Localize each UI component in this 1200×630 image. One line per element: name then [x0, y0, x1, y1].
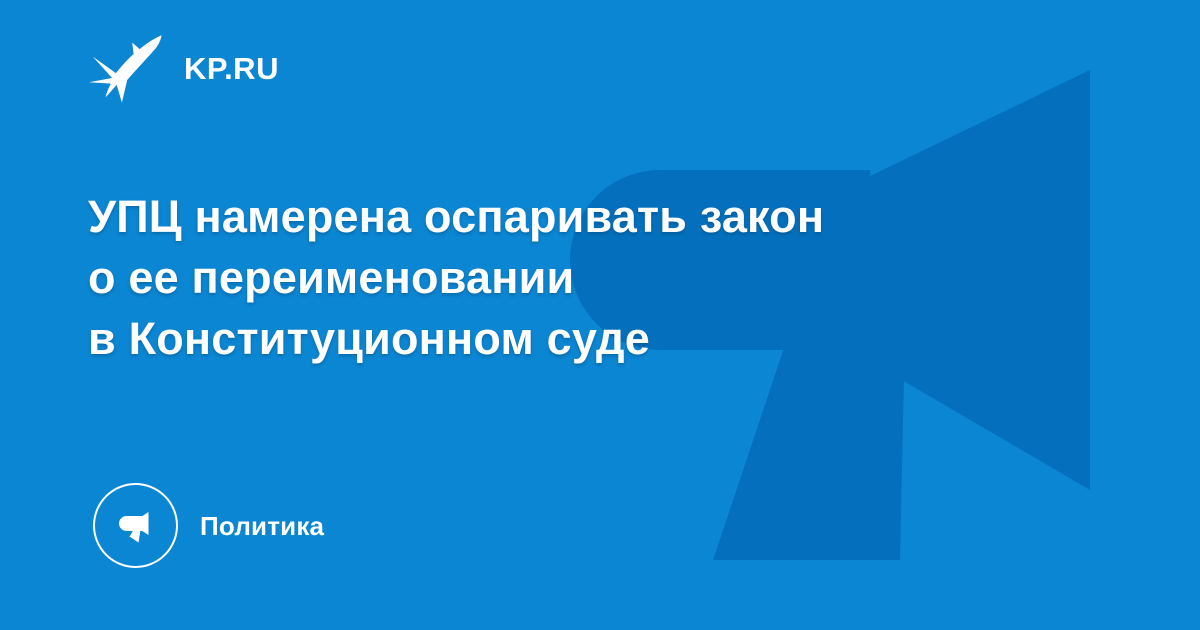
page-title: УПЦ намерена оспаривать закон о ее переи… [88, 186, 1088, 369]
swallow-bird-icon [88, 32, 166, 104]
headline-line-1: УПЦ намерена оспаривать закон [88, 186, 1088, 247]
headline-line-2: о ее переименовании [88, 247, 1088, 308]
category-label: Политика [200, 513, 324, 539]
category-icon-circle [93, 483, 178, 568]
brand-name: KP.RU [184, 53, 279, 84]
megaphone-icon [113, 503, 159, 549]
category-badge[interactable]: Политика [93, 483, 324, 568]
headline-line-3: в Конституционном суде [88, 308, 1088, 369]
social-share-card: KP.RU УПЦ намерена оспаривать закон о ее… [0, 0, 1200, 630]
brand-logo[interactable]: KP.RU [88, 32, 279, 104]
